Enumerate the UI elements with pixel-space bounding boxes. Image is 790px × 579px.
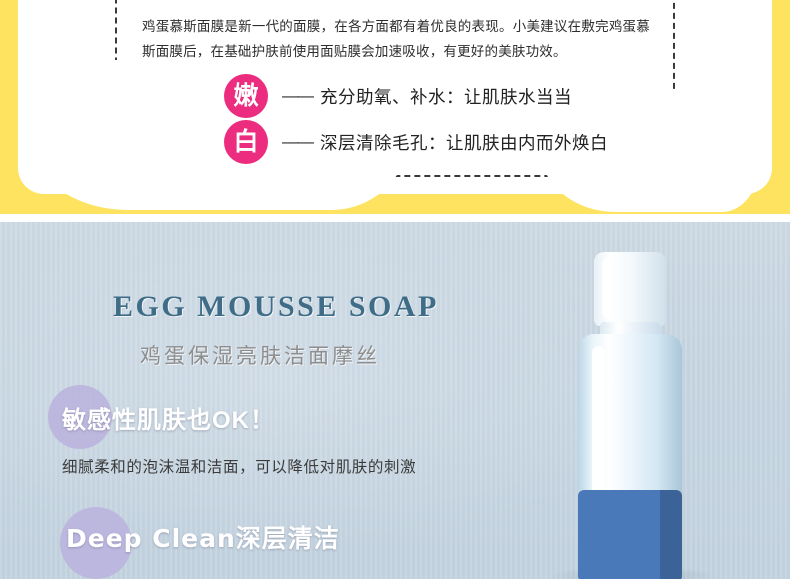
subline-foam-description: 细腻柔和的泡沫温和洁面，可以降低对肌肤的刺激 bbox=[62, 455, 416, 477]
product-chinese-subtitle: 鸡蛋保湿亮肤洁面摩丝 bbox=[140, 340, 380, 370]
feature-text-2: 深层清除毛孔：让肌肤由内而外焕白 bbox=[320, 130, 608, 155]
section-divider bbox=[0, 214, 790, 222]
bottle-label bbox=[578, 490, 682, 579]
badge-nen: 嫩 bbox=[224, 74, 268, 118]
feature-text-1: 充分助氧、补水：让肌肤水当当 bbox=[320, 84, 572, 109]
bottom-blue-panel: EGG MOUSSE SOAP 鸡蛋保湿亮肤洁面摩丝 敏感性肌肤也OK！ 细腻柔… bbox=[0, 222, 790, 579]
feature-row-bai: 白 —— 深层清除毛孔：让肌肤由内而外焕白 bbox=[224, 120, 608, 164]
product-english-title: EGG MOUSSE SOAP bbox=[113, 290, 439, 324]
dash-separator-1: —— bbox=[282, 86, 312, 106]
badge-bai: 白 bbox=[224, 120, 268, 164]
product-detail-page: 鸡蛋慕斯面膜是新一代的面膜，在各方面都有着优良的表现。小美建议在敷完鸡蛋慕斯面膜… bbox=[0, 0, 790, 579]
intro-paragraph: 鸡蛋慕斯面膜是新一代的面膜，在各方面都有着优良的表现。小美建议在敷完鸡蛋慕斯面膜… bbox=[142, 14, 650, 64]
headline-deep-clean: Deep Clean深层清洁 bbox=[66, 519, 340, 555]
dash-separator-2: —— bbox=[282, 132, 312, 152]
product-bottle-image bbox=[570, 252, 690, 579]
headline-sensitive-skin: 敏感性肌肤也OK！ bbox=[62, 400, 275, 435]
bottle-cap bbox=[594, 252, 666, 326]
top-yellow-panel: 鸡蛋慕斯面膜是新一代的面膜，在各方面都有着优良的表现。小美建议在敷完鸡蛋慕斯面膜… bbox=[0, 0, 790, 214]
feature-row-nen: 嫩 —— 充分助氧、补水：让肌肤水当当 bbox=[224, 74, 572, 118]
